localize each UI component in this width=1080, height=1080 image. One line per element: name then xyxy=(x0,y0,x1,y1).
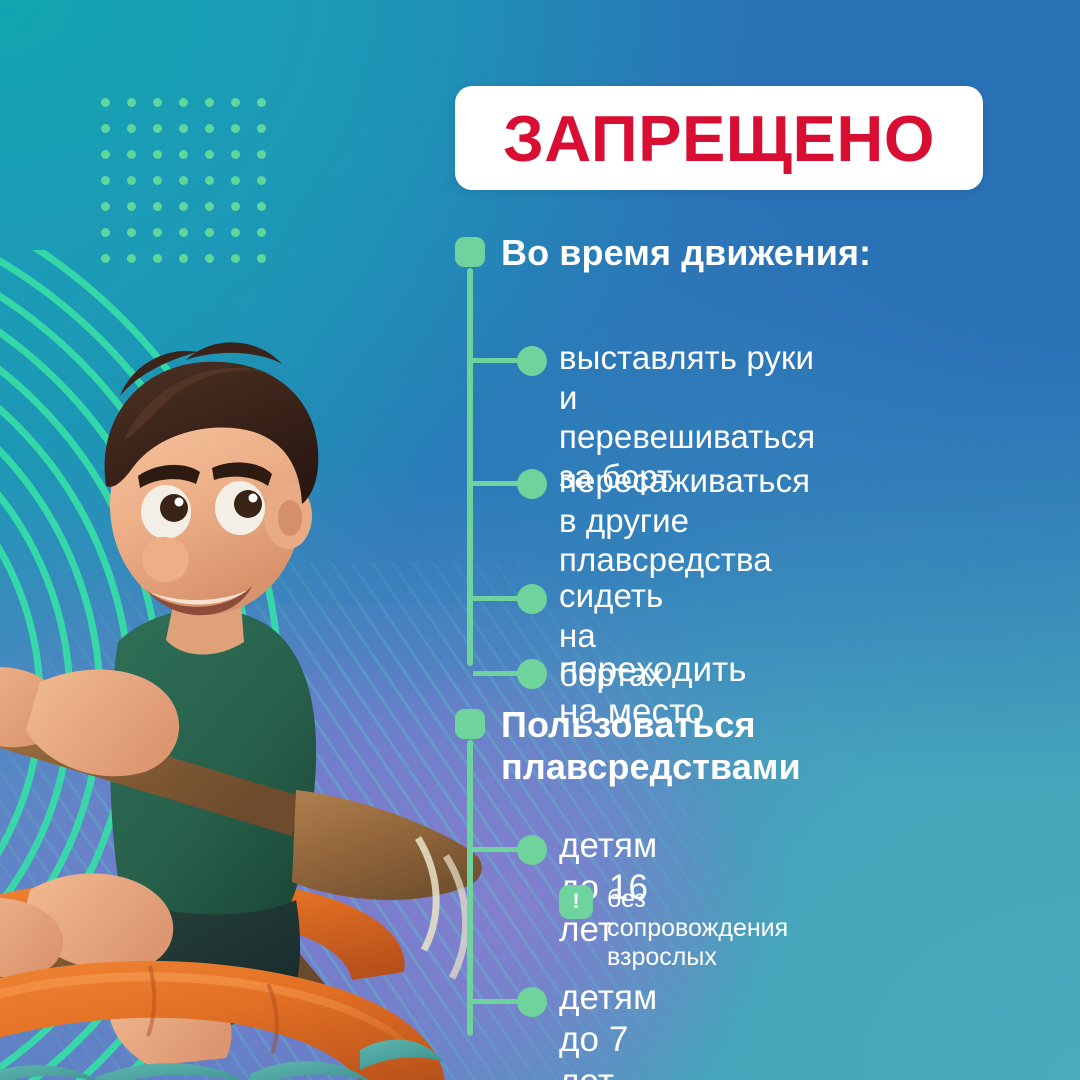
boy-pupil-left xyxy=(160,494,188,522)
boy-hair-tuft-a xyxy=(186,342,282,364)
grid-dot xyxy=(153,150,162,159)
grid-dot xyxy=(101,254,110,263)
sub-note: ! без сопровождения взрослых xyxy=(559,885,801,972)
illustration-boy-rowing-boat xyxy=(0,290,520,1080)
grid-dot xyxy=(127,98,136,107)
grid-dot xyxy=(127,124,136,133)
grid-dot xyxy=(257,254,266,263)
sub-note-label: без сопровождения взрослых xyxy=(607,885,801,972)
dot-marker-icon xyxy=(517,469,547,499)
boy-ear-inner xyxy=(278,500,302,536)
grid-dot xyxy=(153,176,162,185)
grid-dot xyxy=(127,228,136,237)
section-heading: Во время движения: xyxy=(501,232,871,274)
grid-dot xyxy=(205,98,214,107)
section-header: Пользоваться плавсредствами xyxy=(455,704,801,789)
oar-blade xyxy=(292,790,482,900)
grid-dot xyxy=(231,254,240,263)
content-column: ЗАПРЕЩЕНО Во время движения: выставлять … xyxy=(455,0,1080,1080)
grid-dot xyxy=(101,124,110,133)
page-title: ЗАПРЕЩЕНО xyxy=(503,106,935,171)
grid-dot xyxy=(179,150,188,159)
water-splash-d xyxy=(0,1065,100,1080)
grid-dot xyxy=(179,124,188,133)
section-heading: Пользоваться плавсредствами xyxy=(501,704,801,789)
grid-dot xyxy=(101,176,110,185)
square-marker-icon xyxy=(455,709,485,739)
section-during-movement: Во время движения: выставлять руки и пер… xyxy=(455,232,871,276)
grid-dot xyxy=(127,176,136,185)
grid-dot xyxy=(179,228,188,237)
boy-eye-glint-right xyxy=(249,494,258,503)
grid-dot xyxy=(127,254,136,263)
grid-dot xyxy=(257,176,266,185)
tree-trunk-line xyxy=(467,268,473,666)
grid-dot xyxy=(205,254,214,263)
list-item-label: детям до 7 лет xyxy=(559,977,657,1080)
grid-dot xyxy=(205,124,214,133)
square-marker-icon xyxy=(455,237,485,267)
boy-pupil-right xyxy=(234,490,262,518)
grid-dot xyxy=(257,228,266,237)
grid-dot xyxy=(257,124,266,133)
dot-marker-icon xyxy=(517,987,547,1017)
poster-root: ЗАПРЕЩЕНО Во время движения: выставлять … xyxy=(0,0,1080,1080)
grid-dot xyxy=(153,124,162,133)
section-header: Во время движения: xyxy=(455,232,871,276)
grid-dot xyxy=(231,228,240,237)
dot-marker-icon xyxy=(517,659,547,689)
grid-dot xyxy=(205,176,214,185)
grid-dot xyxy=(231,150,240,159)
grid-dot xyxy=(231,176,240,185)
grid-dot xyxy=(205,228,214,237)
grid-dot xyxy=(257,98,266,107)
grid-dot xyxy=(179,176,188,185)
dot-marker-icon xyxy=(517,584,547,614)
grid-dot xyxy=(127,150,136,159)
grid-dot xyxy=(101,202,110,211)
grid-dot xyxy=(231,98,240,107)
water-splash-c xyxy=(90,1063,250,1080)
grid-dot xyxy=(179,202,188,211)
title-badge: ЗАПРЕЩЕНО xyxy=(455,86,983,190)
grid-dot xyxy=(127,202,136,211)
dot-marker-icon xyxy=(517,835,547,865)
grid-dot xyxy=(257,202,266,211)
grid-dot xyxy=(257,150,266,159)
grid-dot xyxy=(101,228,110,237)
grid-dot xyxy=(179,98,188,107)
exclamation-icon: ! xyxy=(559,885,593,919)
grid-dot xyxy=(231,124,240,133)
grid-dot xyxy=(231,202,240,211)
grid-dot xyxy=(101,150,110,159)
grid-dot xyxy=(205,202,214,211)
boy-eye-glint-left xyxy=(175,498,184,507)
grid-dot xyxy=(153,98,162,107)
section-use-of-watercraft: Пользоваться плавсредствами детям до 16 … xyxy=(455,704,801,789)
grid-dot xyxy=(179,254,188,263)
grid-dot xyxy=(205,150,214,159)
dot-grid-decor xyxy=(101,98,283,280)
grid-dot xyxy=(153,202,162,211)
list-item-label: пересаживаться в другие плавсредства xyxy=(559,461,810,580)
dot-marker-icon xyxy=(517,346,547,376)
grid-dot xyxy=(153,254,162,263)
grid-dot xyxy=(101,98,110,107)
grid-dot xyxy=(153,228,162,237)
